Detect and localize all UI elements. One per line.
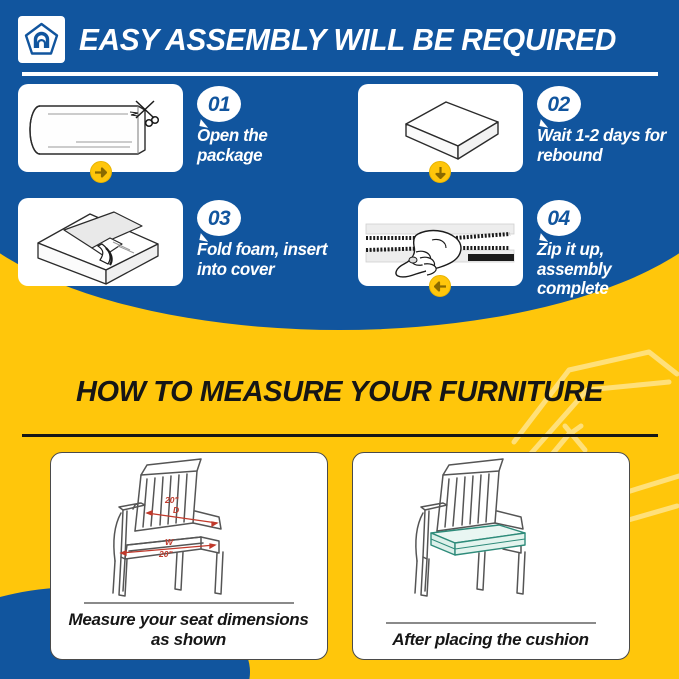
step-illustration-card-04 [358,198,523,286]
chair-with-cushion-icon [391,453,591,601]
infographic-root: EASY ASSEMBLY WILL BE REQUIRED [0,0,679,679]
measure-card-cushion: After placing the cushion [352,452,630,660]
step-illustration-card-01 [18,84,183,172]
measure-card-art-right [353,453,629,622]
step-number-badge-02: 02 [537,86,581,122]
header: EASY ASSEMBLY WILL BE REQUIRED [18,8,661,70]
step-item-03: 03 Fold foam, insert into cover [0,198,340,312]
measure-section-title: HOW TO MEASURE YOUR FURNITURE [0,378,679,407]
arrow-right-badge-01 [90,161,112,183]
step-label-03: Fold foam, insert into cover [197,240,335,279]
flat-foam-slab-icon [358,84,523,172]
step-number-01: 01 [208,94,230,115]
measure-cards: 20" D W 20" Measure your seat dimensions… [0,452,679,660]
dimension-depth-value: 20" [164,495,179,505]
arrow-left-badge-04 [429,275,451,297]
dimension-width-value: 20" [158,549,173,559]
step-number-badge-04: 04 [537,200,581,236]
hand-closing-zipper-icon [358,198,523,286]
chair-with-dimension-arrows-icon: 20" D W 20" [89,453,289,601]
step-illustration-card-03 [18,198,183,286]
arrow-down-badge-02 [429,161,451,183]
foam-inserted-into-cover-icon [18,198,183,286]
measure-card-separator-left [84,602,294,604]
step-illustration-card-02 [358,84,523,172]
house-pentagon-logo-icon [18,16,65,63]
measure-card-caption-left: Measure your seat dimensions as shown [51,610,327,659]
step-number-02: 02 [547,94,569,115]
step-item-01: 01 Open the package [0,84,340,196]
step-number-03: 03 [208,208,230,229]
rolled-package-with-scissors-icon [18,84,183,172]
step-number-04: 04 [547,208,569,229]
step-text-01: 01 Open the package [197,84,340,165]
assembly-section: EASY ASSEMBLY WILL BE REQUIRED [0,0,679,330]
header-title: EASY ASSEMBLY WILL BE REQUIRED [79,24,616,55]
step-label-02: Wait 1-2 days for rebound [537,126,675,165]
steps-grid: 01 Open the package [0,84,679,312]
step-text-04: 04 Zip it up, assembly complete [537,198,679,299]
step-number-badge-01: 01 [197,86,241,122]
step-label-04: Zip it up, assembly complete [537,240,675,299]
step-item-02: 02 Wait 1-2 days for rebound [340,84,679,196]
measure-card-art-left: 20" D W 20" [51,453,327,602]
measure-section-divider [22,434,658,437]
step-text-02: 02 Wait 1-2 days for rebound [537,84,679,165]
measure-card-caption-right: After placing the cushion [384,630,597,659]
measure-card-separator-right [386,622,596,624]
step-number-badge-03: 03 [197,200,241,236]
step-item-04: 04 Zip it up, assembly complete [340,198,679,312]
step-text-03: 03 Fold foam, insert into cover [197,198,340,279]
step-label-01: Open the package [197,126,335,165]
measure-card-dimensions: 20" D W 20" Measure your seat dimensions… [50,452,328,660]
dimension-depth-letter: D [173,505,179,515]
dimension-width-letter: W [165,537,174,547]
header-divider [22,72,658,76]
